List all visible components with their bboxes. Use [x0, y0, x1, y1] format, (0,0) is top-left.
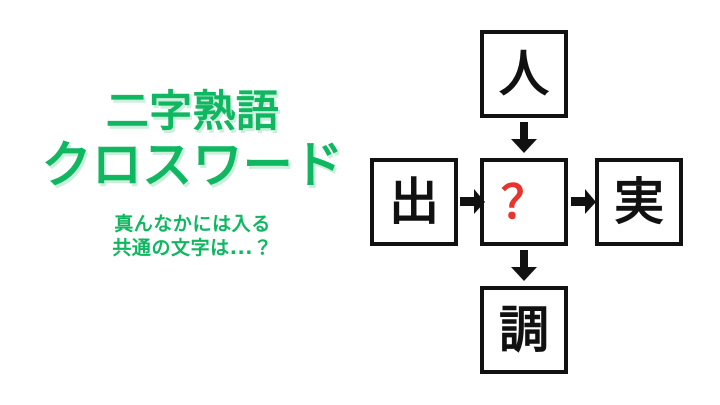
kanji-cross-diagram: 人 出 ？ 実 調 — [370, 18, 710, 388]
puzzle-cell-right: 実 — [595, 158, 683, 246]
heading-block: 二字熟語 クロスワード 真んなかには入る 共通の文字は...？ — [0, 88, 385, 261]
page-title: 二字熟語 クロスワード — [0, 88, 385, 194]
puzzle-cell-top-label: 人 — [499, 49, 549, 99]
puzzle-cell-bottom-label: 調 — [499, 305, 549, 355]
puzzle-slide: 二字熟語 クロスワード 真んなかには入る 共通の文字は...？ 人 出 ？ 実 … — [0, 0, 720, 405]
title-line-2: クロスワード — [0, 137, 385, 194]
puzzle-cell-center-answer[interactable]: ？ — [480, 158, 568, 246]
puzzle-cell-bottom: 調 — [480, 286, 568, 374]
subtitle-line-2: 共通の文字は...？ — [0, 236, 385, 260]
subtitle-line-1: 真んなかには入る — [0, 212, 385, 236]
page-subtitle: 真んなかには入る 共通の文字は...？ — [0, 212, 385, 261]
puzzle-cell-left: 出 — [370, 158, 458, 246]
question-mark-icon: ？ — [501, 179, 547, 225]
puzzle-cell-left-label: 出 — [389, 177, 439, 227]
title-line-1: 二字熟語 — [0, 88, 385, 137]
puzzle-cell-right-label: 実 — [614, 177, 664, 227]
puzzle-cell-top: 人 — [480, 30, 568, 118]
